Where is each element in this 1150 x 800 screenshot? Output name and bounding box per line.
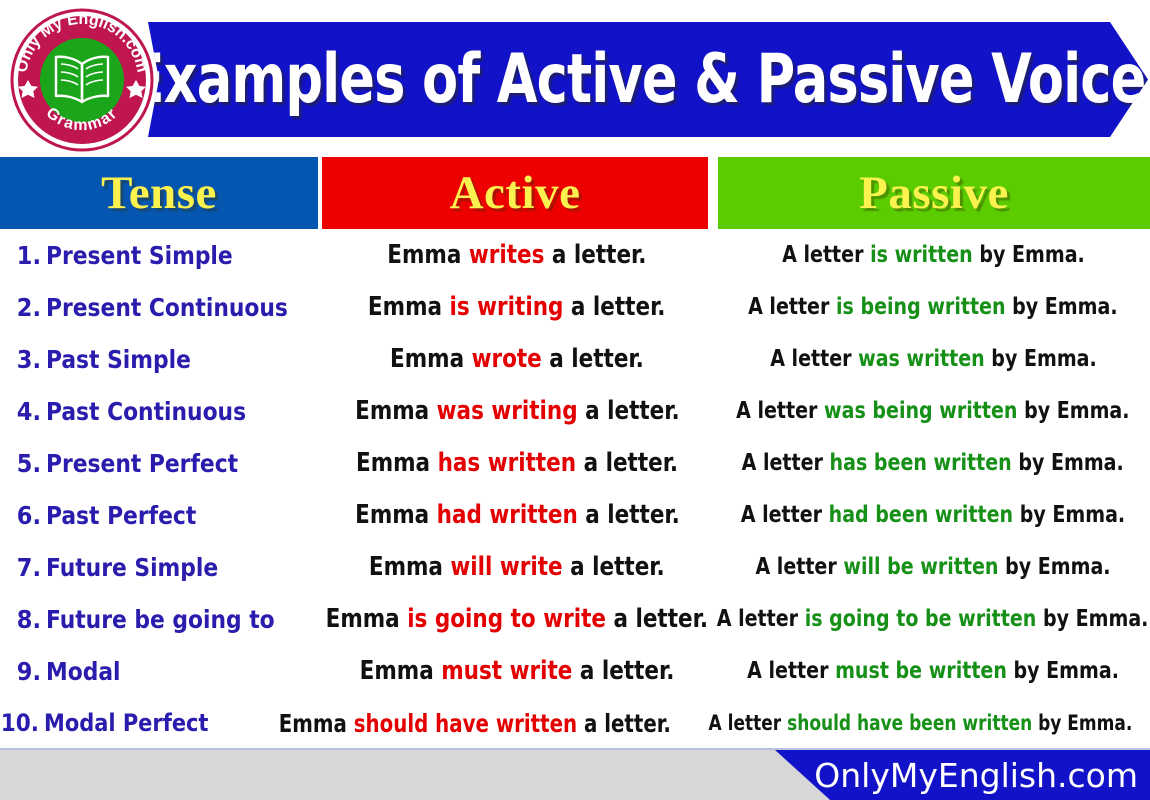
active-sentence-after: a letter. <box>545 240 647 270</box>
active-sentence-before: Emma <box>326 604 408 634</box>
passive-sentence-before: A letter <box>782 242 870 268</box>
cell-passive: A letter has been written by Emma. <box>716 437 1150 489</box>
active-verb: must write <box>441 656 572 686</box>
column-header-tense: Tense <box>0 157 318 229</box>
tense-name: Future Simple <box>46 553 218 582</box>
passive-sentence: A letter is written by Emma. <box>782 242 1085 268</box>
passive-sentence: A letter had been written by Emma. <box>741 502 1125 528</box>
passive-sentence-after: by Emma. <box>972 242 1084 268</box>
active-sentence: Emma has written a letter. <box>356 448 678 478</box>
passive-verb: is being written <box>836 294 1006 320</box>
tense-name: Past Simple <box>46 345 191 374</box>
row-number: 4. <box>0 397 46 426</box>
active-verb: is writing <box>450 292 564 322</box>
table-row: 6.Past PerfectEmma had written a letter.… <box>0 489 1150 541</box>
passive-verb: was being written <box>824 398 1017 424</box>
cell-tense: 1.Present Simple <box>0 229 318 281</box>
table-row: 3.Past SimpleEmma wrote a letter.A lette… <box>0 333 1150 385</box>
active-sentence-before: Emma <box>355 500 437 530</box>
active-sentence: Emma writes a letter. <box>387 240 646 270</box>
active-sentence: Emma is going to write a letter. <box>326 604 708 634</box>
cell-active: Emma will write a letter. <box>322 541 712 593</box>
row-number: 3. <box>0 345 46 374</box>
active-verb: is going to write <box>407 604 606 634</box>
passive-sentence-before: A letter <box>770 346 858 372</box>
cell-active: Emma writes a letter. <box>322 229 712 281</box>
passive-verb: will be written <box>843 554 998 580</box>
passive-sentence-after: by Emma. <box>1013 502 1125 528</box>
cell-passive: A letter is being written by Emma. <box>716 281 1150 333</box>
cell-active: Emma is going to write a letter. <box>322 593 712 645</box>
active-sentence-after: a letter. <box>576 448 678 478</box>
passive-verb: has been written <box>830 450 1012 476</box>
active-verb: should have written <box>354 709 577 738</box>
passive-sentence: A letter was written by Emma. <box>770 346 1097 372</box>
passive-verb: is going to be written <box>805 606 1037 632</box>
row-number: 8. <box>0 605 46 634</box>
active-sentence: Emma had written a letter. <box>355 500 680 530</box>
cell-passive: A letter was being written by Emma. <box>716 385 1150 437</box>
table-row: 5.Present PerfectEmma has written a lett… <box>0 437 1150 489</box>
active-verb: was writing <box>436 396 577 426</box>
column-header-active-label: Active <box>450 170 581 217</box>
site-logo-badge[interactable]: Only My English.com Grammar <box>8 6 156 154</box>
active-verb: has written <box>438 448 577 478</box>
table-row: 1.Present SimpleEmma writes a letter.A l… <box>0 229 1150 281</box>
tense-name: Present Simple <box>46 241 233 270</box>
cell-active: Emma must write a letter. <box>322 645 712 697</box>
active-sentence-before: Emma <box>355 396 437 426</box>
cell-active: Emma had written a letter. <box>322 489 712 541</box>
table-row: 2.Present ContinuousEmma is writing a le… <box>0 281 1150 333</box>
cell-tense: 9.Modal <box>0 645 318 697</box>
cell-active: Emma wrote a letter. <box>322 333 712 385</box>
active-sentence-after: a letter. <box>606 604 708 634</box>
cell-tense: 2.Present Continuous <box>0 281 318 333</box>
active-sentence: Emma is writing a letter. <box>368 292 666 322</box>
cell-tense: 7.Future Simple <box>0 541 318 593</box>
passive-sentence-before: A letter <box>717 606 805 632</box>
passive-sentence-before: A letter <box>741 502 829 528</box>
tense-name: Present Perfect <box>46 449 238 478</box>
active-sentence-after: a letter. <box>563 552 665 582</box>
active-verb: wrote <box>472 344 542 374</box>
passive-sentence-after: by Emma. <box>1006 294 1118 320</box>
row-number: 9. <box>0 657 46 686</box>
cell-passive: A letter had been written by Emma. <box>716 489 1150 541</box>
active-sentence: Emma wrote a letter. <box>390 344 644 374</box>
cell-active: Emma is writing a letter. <box>322 281 712 333</box>
row-number: 7. <box>0 553 46 582</box>
active-sentence: Emma will write a letter. <box>369 552 665 582</box>
passive-verb: was written <box>858 346 985 372</box>
tense-name: Modal <box>46 657 121 686</box>
logo-svg: Only My English.com Grammar <box>8 6 156 154</box>
active-sentence-after: a letter. <box>564 292 666 322</box>
table-row: 8.Future be going toEmma is going to wri… <box>0 593 1150 645</box>
page-footer: OnlyMyEnglish.com <box>0 748 1150 800</box>
active-sentence: Emma was writing a letter. <box>355 396 680 426</box>
cell-passive: A letter should have been written by Emm… <box>690 697 1150 749</box>
cell-tense: 5.Present Perfect <box>0 437 318 489</box>
active-sentence-after: a letter. <box>577 396 679 426</box>
page-title: Examples of Active & Passive Voice <box>128 46 1150 114</box>
table-row: 7.Future SimpleEmma will write a letter.… <box>0 541 1150 593</box>
active-sentence-after: a letter. <box>572 656 674 686</box>
passive-sentence: A letter must be written by Emma. <box>747 658 1119 684</box>
column-header-passive: Passive <box>718 157 1150 229</box>
tense-name: Future be going to <box>46 605 275 634</box>
passive-sentence: A letter was being written by Emma. <box>736 398 1129 424</box>
active-verb: had written <box>436 500 577 530</box>
passive-sentence: A letter has been written by Emma. <box>742 450 1124 476</box>
cell-passive: A letter was written by Emma. <box>716 333 1150 385</box>
row-number: 10. <box>0 709 44 737</box>
active-sentence: Emma should have written a letter. <box>279 709 671 738</box>
passive-sentence-before: A letter <box>747 658 835 684</box>
passive-verb: should have been written <box>787 711 1032 735</box>
active-sentence-after: a letter. <box>542 344 644 374</box>
passive-sentence-after: by Emma. <box>1018 398 1130 424</box>
active-sentence-before: Emma <box>356 448 438 478</box>
page-header: Examples of Active & Passive Voice Only … <box>0 0 1150 152</box>
active-sentence-after: a letter. <box>577 500 679 530</box>
active-verb: writes <box>469 240 545 270</box>
column-header-active: Active <box>322 157 708 229</box>
tense-name: Past Perfect <box>46 501 196 530</box>
column-header-passive-label: Passive <box>859 170 1009 217</box>
cell-tense: 6.Past Perfect <box>0 489 318 541</box>
cell-active: Emma has written a letter. <box>322 437 712 489</box>
cell-passive: A letter is going to be written by Emma. <box>716 593 1150 645</box>
table-column-headers: Tense Active Passive <box>0 157 1150 229</box>
cell-tense: 8.Future be going to <box>0 593 318 645</box>
cell-active: Emma should have written a letter. <box>245 697 705 749</box>
passive-sentence-before: A letter <box>742 450 830 476</box>
passive-sentence: A letter is going to be written by Emma. <box>717 606 1149 632</box>
active-sentence-before: Emma <box>387 240 469 270</box>
tense-name: Modal Perfect <box>44 709 208 737</box>
tense-name: Past Continuous <box>46 397 246 426</box>
passive-sentence-after: by Emma. <box>1032 711 1132 735</box>
passive-verb: is written <box>870 242 973 268</box>
tense-name: Present Continuous <box>46 293 288 322</box>
passive-verb: must be written <box>835 658 1007 684</box>
table-body: 1.Present SimpleEmma writes a letter.A l… <box>0 229 1150 749</box>
active-sentence: Emma must write a letter. <box>360 656 675 686</box>
passive-sentence-after: by Emma. <box>1012 450 1124 476</box>
active-sentence-before: Emma <box>360 656 442 686</box>
cell-active: Emma was writing a letter. <box>322 385 712 437</box>
open-book-icon <box>56 57 108 102</box>
passive-sentence-after: by Emma. <box>1037 606 1149 632</box>
column-header-tense-label: Tense <box>101 170 217 217</box>
active-sentence-before: Emma <box>390 344 472 374</box>
cell-passive: A letter is written by Emma. <box>716 229 1150 281</box>
active-sentence-after: a letter. <box>577 709 671 738</box>
passive-sentence-after: by Emma. <box>998 554 1110 580</box>
active-sentence-before: Emma <box>369 552 451 582</box>
active-sentence-before: Emma <box>368 292 450 322</box>
passive-sentence-before: A letter <box>736 398 824 424</box>
table-row: 9.ModalEmma must write a letter.A letter… <box>0 645 1150 697</box>
table-row: 4.Past ContinuousEmma was writing a lett… <box>0 385 1150 437</box>
row-number: 2. <box>0 293 46 322</box>
cell-tense: 4.Past Continuous <box>0 385 318 437</box>
active-verb: will write <box>451 552 563 582</box>
table-row: 10.Modal PerfectEmma should have written… <box>0 697 1150 749</box>
title-banner: Examples of Active & Passive Voice <box>148 22 1148 137</box>
row-number: 5. <box>0 449 46 478</box>
row-number: 1. <box>0 241 46 270</box>
row-number: 6. <box>0 501 46 530</box>
passive-sentence: A letter will be written by Emma. <box>755 554 1110 580</box>
passive-sentence-before: A letter <box>748 294 836 320</box>
passive-sentence-before: A letter <box>708 711 787 735</box>
passive-sentence: A letter should have been written by Emm… <box>708 711 1132 735</box>
active-sentence-before: Emma <box>279 709 354 738</box>
cell-passive: A letter must be written by Emma. <box>716 645 1150 697</box>
passive-sentence: A letter is being written by Emma. <box>748 294 1118 320</box>
passive-sentence-before: A letter <box>755 554 843 580</box>
cell-passive: A letter will be written by Emma. <box>716 541 1150 593</box>
passive-sentence-after: by Emma. <box>1007 658 1119 684</box>
cell-tense: 3.Past Simple <box>0 333 318 385</box>
passive-verb: had been written <box>829 502 1013 528</box>
footer-site-name[interactable]: OnlyMyEnglish.com <box>814 750 1138 800</box>
passive-sentence-after: by Emma. <box>984 346 1096 372</box>
